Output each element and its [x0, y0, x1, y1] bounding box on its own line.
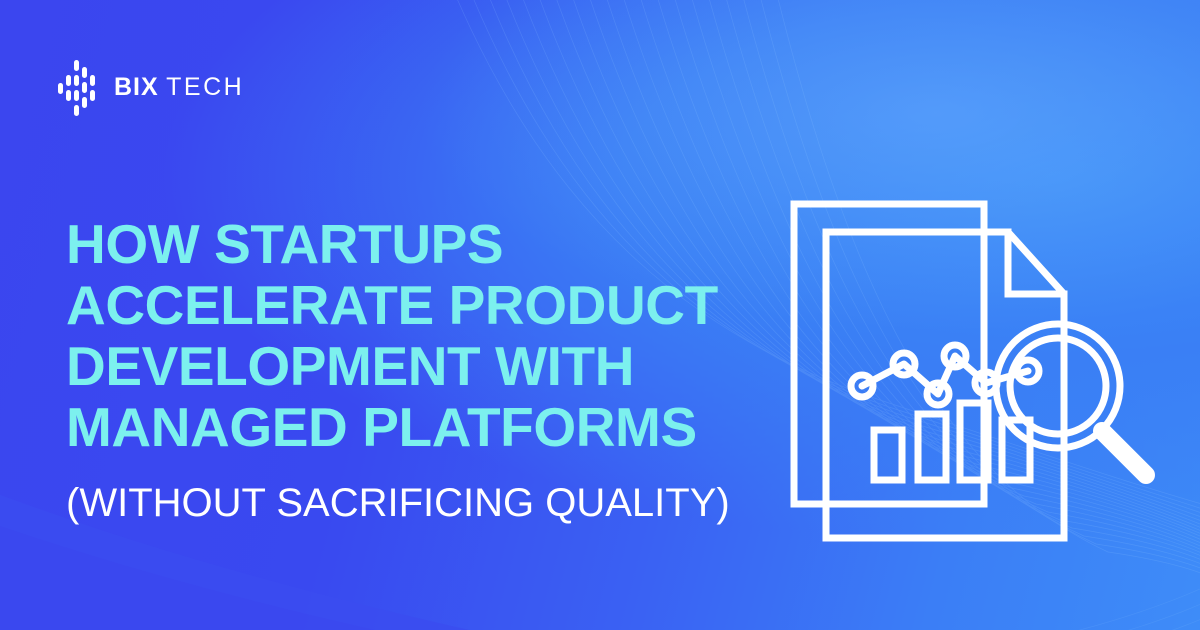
social-banner: BIX TECH HOW STARTUPS ACCELERATE PRODUCT…	[0, 0, 1200, 630]
page-subtitle: (WITHOUT SACRIFICING QUALITY)	[66, 480, 776, 526]
brand-name-light: TECH	[166, 73, 244, 101]
brand-name-bold: BIX	[114, 73, 159, 101]
magnifying-glass-icon	[996, 324, 1146, 475]
headline-line-1: HOW STARTUPS	[66, 214, 776, 275]
page-title: HOW STARTUPS ACCELERATE PRODUCT DEVELOPM…	[66, 214, 776, 458]
headline-line-4: MANAGED PLATFORMS	[66, 397, 776, 458]
document-analytics-magnifier-illustration	[780, 190, 1170, 550]
headline-block: HOW STARTUPS ACCELERATE PRODUCT DEVELOPM…	[66, 214, 776, 526]
headline-line-3: DEVELOPMENT WITH	[66, 336, 776, 397]
bix-dots-arrow-logo-icon	[58, 56, 100, 118]
bar-2	[918, 414, 946, 480]
headline-line-2: ACCELERATE PRODUCT	[66, 275, 776, 336]
brand-wordmark: BIX TECH	[114, 75, 244, 100]
bar-1	[874, 430, 902, 480]
brand-logo[interactable]: BIX TECH	[58, 56, 244, 118]
